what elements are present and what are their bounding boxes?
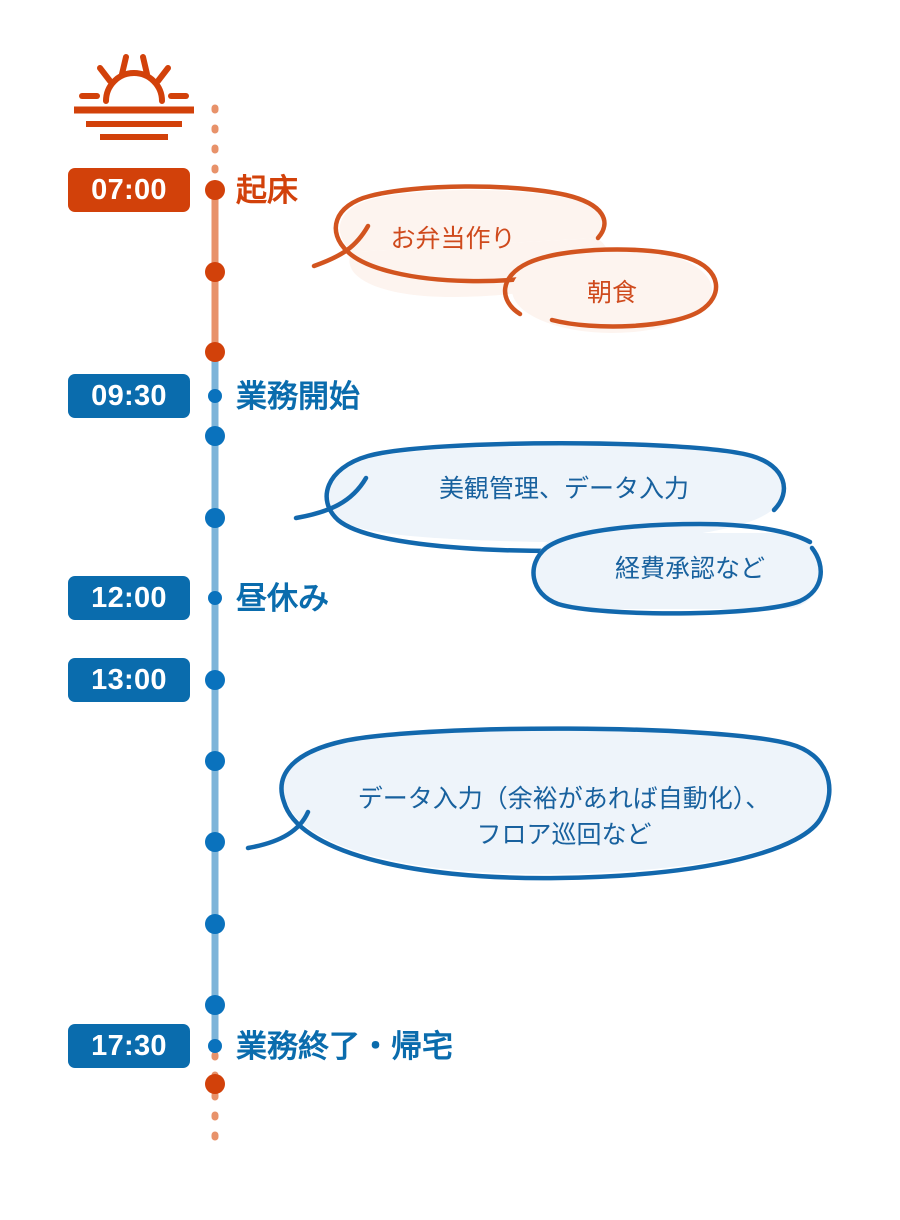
bubble-text-breakfast: 朝食 [562,276,662,312]
bubble-text-bento: お弁当作り [368,222,538,258]
event-label-0700: 起床 [236,175,298,206]
time-badge-1730: 17:30 [68,1024,190,1068]
schedule-timeline-figure: 07:00 09:30 12:00 13:00 17:30 起床 業務開始 昼休… [0,0,900,1220]
event-label-1730: 業務終了・帰宅 [236,1031,453,1062]
time-badge-1200: 12:00 [68,576,190,620]
bubble-text-morning: 美観管理、データ入力 [392,472,736,508]
time-badge-1300: 13:00 [68,658,190,702]
bubble-text-expenses: 経費承認など [578,552,802,588]
time-badge-0700: 07:00 [68,168,190,212]
event-label-0930: 業務開始 [236,381,360,412]
event-label-1200: 昼休み [236,583,329,614]
time-badge-0930: 09:30 [68,374,190,418]
bubble-text-afternoon: データ入力（余裕があれば自動化）、 フロア巡回など [308,782,820,853]
